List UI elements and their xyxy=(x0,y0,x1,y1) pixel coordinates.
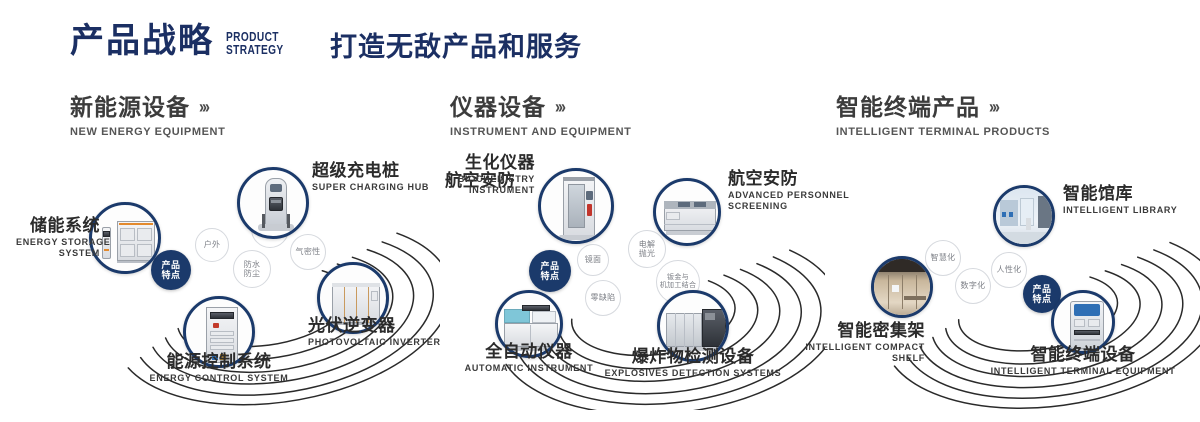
chevrons-icon: ››› xyxy=(555,98,564,117)
node-label-energy-control-system: 能源控制系统 ENERGY CONTROL SYSTEM xyxy=(129,353,309,384)
feature-label-2: 机加工结合 xyxy=(660,282,697,290)
node-advanced-personnel-screening[interactable] xyxy=(653,178,721,246)
page-subtitle: 打造无敌产品和服务 xyxy=(330,34,582,61)
node-label-en: EXPLOSIVES DETECTION SYSTEMS xyxy=(603,368,783,379)
section-title-en: INTELLIGENT TERMINAL PRODUCTS xyxy=(836,126,1050,138)
node-label-cn: 光伏逆变器 xyxy=(308,317,441,335)
core-label-line1: 产品 xyxy=(1032,284,1051,294)
page-title: 产品战略 PRODUCT STRATEGY xyxy=(70,24,300,58)
feature-bubble-zero-defect: 零缺陷 xyxy=(585,280,621,316)
node-label-cn: 超级充电桩 xyxy=(312,162,429,180)
node-biochemistry-instrument[interactable] xyxy=(538,168,614,244)
node-label-intelligent-terminal-equipment: 智能终端设备 INTELLIGENT TERMINAL EQUIPMENT xyxy=(988,346,1178,377)
cluster-intelligent-terminal-products: 智慧化 数字化 人性化 产品 特点 xyxy=(805,150,1200,410)
page-title-cn: 产品战略 xyxy=(70,24,214,58)
feature-bubble-digital: 数字化 xyxy=(955,268,991,304)
core-label-line1: 产品 xyxy=(161,260,180,270)
terminal-kiosk-image xyxy=(1054,293,1112,351)
node-label-cn: 储能系统 xyxy=(16,217,100,235)
compact-shelf-photo xyxy=(874,259,930,315)
screening-machine-image xyxy=(656,181,718,243)
intelligent-library-photo xyxy=(996,188,1052,244)
node-label-cn: 爆炸物检测设备 xyxy=(603,348,783,366)
core-label-line2: 特点 xyxy=(540,271,559,281)
cluster-new-energy-equipment: 产品 特点 户外 防腐 防锈 防水 防尘 气密性 xyxy=(40,150,440,410)
feature-bubble-smart: 智慧化 xyxy=(925,240,961,276)
node-label-cn: 智能终端设备 xyxy=(988,346,1178,364)
core-label-line2: 特点 xyxy=(1032,294,1051,304)
section-title-instrument: 仪器设备 ››› INSTRUMENT AND EQUIPMENT xyxy=(450,96,631,138)
node-label-en: INTELLIGENT TERMINAL EQUIPMENT xyxy=(988,366,1178,377)
cluster-instrument-and-equipment: 产品 特点 镜面 电解 抛光 零缺陷 钣金与 机加工结合 xyxy=(425,150,825,410)
node-super-charging-hub[interactable] xyxy=(237,167,309,239)
feature-label-2: 防尘 xyxy=(244,269,261,278)
feature-label: 镜面 xyxy=(585,255,602,264)
feature-label: 智慧化 xyxy=(931,253,956,262)
node-label-intelligent-compact-shelf: 智能密集架 INTELLIGENT COMPACT SHELF xyxy=(795,322,925,364)
feature-label: 钣金与 xyxy=(660,274,697,282)
node-label-cn: 全自动仪器 xyxy=(449,343,609,361)
section-title-cn: 新能源设备 ››› xyxy=(70,96,225,119)
chevrons-icon: ››› xyxy=(989,98,998,117)
section-title-new-energy: 新能源设备 ››› NEW ENERGY EQUIPMENT xyxy=(70,96,225,138)
node-label-biochemistry-instrument: 生化仪器 BIOCHEMISTRY INSTRUMENT xyxy=(433,154,535,196)
node-label-photovoltaic-inverter: 光伏逆变器 PHOTOVOLTAIC INVERTER xyxy=(308,317,441,348)
section-title-en: NEW ENERGY EQUIPMENT xyxy=(70,126,225,138)
node-label-energy-storage-system: 储能系统 ENERGY STORAGE SYSTEM xyxy=(16,217,100,259)
section-title-intelligent: 智能终端产品 ››› INTELLIGENT TERMINAL PRODUCTS xyxy=(836,96,1050,138)
feature-label: 数字化 xyxy=(961,281,986,290)
node-intelligent-compact-shelf[interactable] xyxy=(871,256,933,318)
section-title-cn-text: 仪器设备 xyxy=(450,96,546,119)
feature-label: 电解 xyxy=(639,240,656,249)
chevrons-icon: ››› xyxy=(199,98,208,117)
section-title-cn: 仪器设备 ››› xyxy=(450,96,631,119)
core-label-line1: 产品 xyxy=(540,261,559,271)
section-title-cn-text: 新能源设备 xyxy=(70,96,190,119)
feature-label: 零缺陷 xyxy=(591,293,616,302)
feature-label: 防水 xyxy=(244,260,261,269)
feature-label: 人性化 xyxy=(997,265,1022,274)
feature-label-2: 抛光 xyxy=(639,249,656,258)
feature-label: 户外 xyxy=(204,240,221,249)
core-label-line2: 特点 xyxy=(161,270,180,280)
node-label-cn: 智能馆库 xyxy=(1063,185,1177,203)
node-label-cn: 生化仪器 xyxy=(433,154,535,172)
feature-core-bubble: 产品 特点 xyxy=(529,250,571,292)
node-intelligent-library[interactable] xyxy=(993,185,1055,247)
node-label-en: ENERGY CONTROL SYSTEM xyxy=(129,373,309,384)
node-label-en: AUTOMATIC INSTRUMENT xyxy=(449,363,609,374)
node-label-en: ENERGY STORAGE SYSTEM xyxy=(16,237,100,260)
node-label-en: SUPER CHARGING HUB xyxy=(312,182,429,193)
feature-bubble-mirror: 镜面 xyxy=(577,244,609,276)
node-label-cn: 能源控制系统 xyxy=(129,353,309,371)
node-label-en: BIOCHEMISTRY INSTRUMENT xyxy=(433,174,535,197)
page-title-en-line2: STRATEGY xyxy=(226,43,284,56)
node-label-explosives-detection-systems: 爆炸物检测设备 EXPLOSIVES DETECTION SYSTEMS xyxy=(603,348,783,379)
feature-label: 气密性 xyxy=(296,247,321,256)
biochemistry-instrument-image xyxy=(541,171,611,241)
section-title-cn: 智能终端产品 ››› xyxy=(836,96,1050,119)
node-label-automatic-instrument: 全自动仪器 AUTOMATIC INSTRUMENT xyxy=(449,343,609,374)
node-label-intelligent-library: 智能馆库 INTELLIGENT LIBRARY xyxy=(1063,185,1177,216)
page-title-en: PRODUCT STRATEGY xyxy=(226,30,284,56)
node-label-en: INTELLIGENT COMPACT SHELF xyxy=(795,342,925,365)
node-label-cn: 智能密集架 xyxy=(795,322,925,340)
feature-bubble-outdoor: 户外 xyxy=(195,228,229,262)
charging-hub-image xyxy=(240,170,306,236)
node-label-en: INTELLIGENT LIBRARY xyxy=(1063,205,1177,216)
node-label-en: PHOTOVOLTAIC INVERTER xyxy=(308,337,441,348)
node-label-super-charging-hub: 超级充电桩 SUPER CHARGING HUB xyxy=(312,162,429,193)
section-title-cn-text: 智能终端产品 xyxy=(836,96,980,119)
poster-root: 产品战略 PRODUCT STRATEGY 打造无敌产品和服务 新能源设备 ››… xyxy=(0,0,1200,422)
section-title-en: INSTRUMENT AND EQUIPMENT xyxy=(450,126,631,138)
feature-bubble-waterproof: 防水 防尘 xyxy=(233,250,271,288)
feature-bubble-humanized: 人性化 xyxy=(991,252,1027,288)
